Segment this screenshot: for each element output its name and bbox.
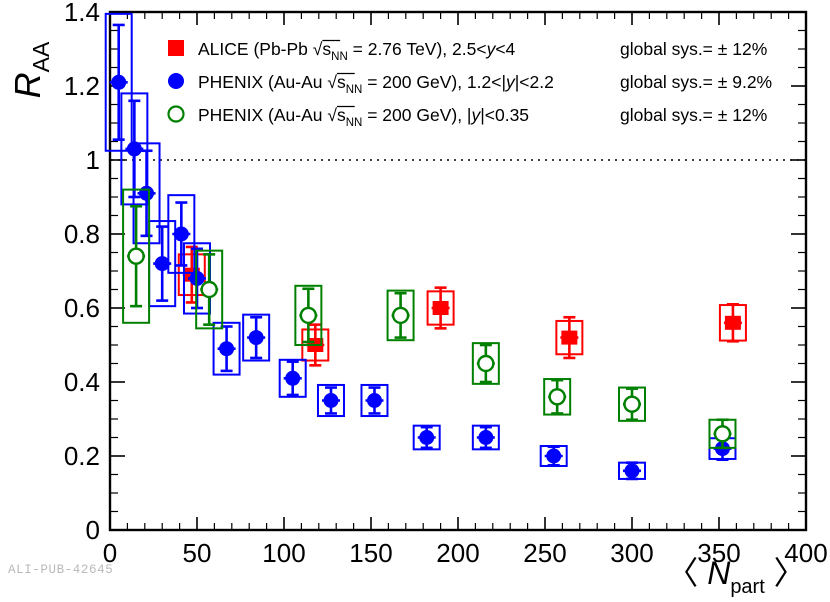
- marker-open-circle: [478, 356, 493, 371]
- data-point: [214, 323, 240, 375]
- y-tick-label: 0.6: [64, 293, 100, 323]
- marker-filled-circle: [249, 330, 264, 345]
- chart-root: 05010015020025030035040000.20.40.60.811.…: [0, 0, 830, 602]
- legend: ALICE (Pb-Pb √sNN = 2.76 TeV), 2.5<y<4gl…: [168, 39, 772, 129]
- data-point: [556, 317, 582, 358]
- legend-marker-filled-square: [168, 40, 184, 56]
- svg-text:RAA: RAA: [7, 41, 54, 98]
- y-tick-label: 0.4: [64, 367, 100, 397]
- legend-label: ALICE (Pb-Pb √sNN = 2.76 TeV), 2.5<y<4: [198, 39, 516, 63]
- marker-filled-circle: [174, 227, 189, 242]
- data-point: [168, 195, 194, 273]
- marker-open-circle: [202, 282, 217, 297]
- data-point: [295, 286, 321, 345]
- y-tick-label: 0.8: [64, 219, 100, 249]
- x-tick-label: 250: [523, 538, 566, 568]
- marker-filled-circle: [478, 430, 493, 445]
- data-point: [318, 385, 344, 416]
- legend-label: PHENIX (Au-Au √sNN = 200 GeV), 1.2<|y|<2…: [198, 72, 554, 96]
- marker-filled-circle: [323, 393, 338, 408]
- data-point: [243, 315, 269, 361]
- series-3: [123, 190, 735, 448]
- marker-filled-circle: [219, 341, 234, 356]
- marker-open-circle: [129, 249, 144, 264]
- x-tick-label: 300: [610, 538, 653, 568]
- legend-marker-open-circle: [169, 107, 184, 122]
- marker-filled-circle: [285, 371, 300, 386]
- data-point: [428, 288, 454, 329]
- data-point: [414, 426, 440, 450]
- y-tick-label: 1.4: [64, 0, 100, 27]
- x-tick-label: 50: [183, 538, 212, 568]
- watermark-label: ALI-PUB-42645: [8, 563, 113, 577]
- data-point: [149, 221, 175, 306]
- marker-open-circle: [550, 389, 565, 404]
- y-tick-label: 1: [86, 145, 100, 175]
- y-tick-label: 1.2: [64, 71, 100, 101]
- y-axis-title: RAA: [7, 41, 54, 98]
- marker-filled-circle: [419, 430, 434, 445]
- marker-filled-circle: [367, 393, 382, 408]
- legend-entry-2[interactable]: PHENIX (Au-Au √sNN = 200 GeV), 1.2<|y|<2…: [168, 72, 772, 96]
- data-point: [388, 291, 414, 341]
- x-tick-label: 150: [349, 538, 392, 568]
- raa-vs-npart-plot: 05010015020025030035040000.20.40.60.811.…: [0, 0, 830, 602]
- data-point: [196, 251, 222, 329]
- data-point: [619, 463, 645, 479]
- data-point: [544, 379, 570, 415]
- legend-label: PHENIX (Au-Au √sNN = 200 GeV), |y|<0.35: [198, 105, 529, 129]
- x-tick-label: 200: [436, 538, 479, 568]
- legend-global-sys: global sys.= ± 12%: [620, 39, 767, 59]
- marker-filled-square: [725, 316, 741, 330]
- legend-marker-filled-circle: [168, 73, 184, 89]
- data-point: [709, 420, 735, 448]
- legend-entry-3[interactable]: PHENIX (Au-Au √sNN = 200 GeV), |y|<0.35g…: [169, 105, 768, 129]
- data-point: [123, 190, 149, 323]
- series-1: [179, 247, 746, 365]
- data-point: [619, 388, 645, 421]
- marker-filled-square: [561, 331, 577, 345]
- marker-filled-circle: [546, 449, 561, 464]
- legend-global-sys: global sys.= ± 12%: [620, 105, 767, 125]
- data-point: [473, 426, 499, 450]
- y-tick-label: 0.2: [64, 441, 100, 471]
- marker-open-circle: [393, 308, 408, 323]
- legend-global-sys: global sys.= ± 9.2%: [620, 72, 772, 92]
- marker-filled-circle: [625, 463, 640, 478]
- y-tick-label: 0: [86, 515, 100, 545]
- marker-filled-square: [433, 301, 449, 315]
- marker-filled-circle: [139, 186, 154, 201]
- data-point: [720, 304, 746, 341]
- marker-open-circle: [715, 426, 730, 441]
- legend-entry-1[interactable]: ALICE (Pb-Pb √sNN = 2.76 TeV), 2.5<y<4gl…: [168, 39, 767, 63]
- marker-open-circle: [625, 397, 640, 412]
- data-point: [361, 385, 387, 416]
- marker-open-circle: [301, 308, 316, 323]
- data-point: [280, 360, 306, 397]
- x-tick-label: 100: [262, 538, 305, 568]
- data-point: [134, 143, 160, 243]
- marker-filled-circle: [111, 75, 126, 90]
- data-point: [541, 446, 567, 466]
- data-point: [473, 343, 499, 384]
